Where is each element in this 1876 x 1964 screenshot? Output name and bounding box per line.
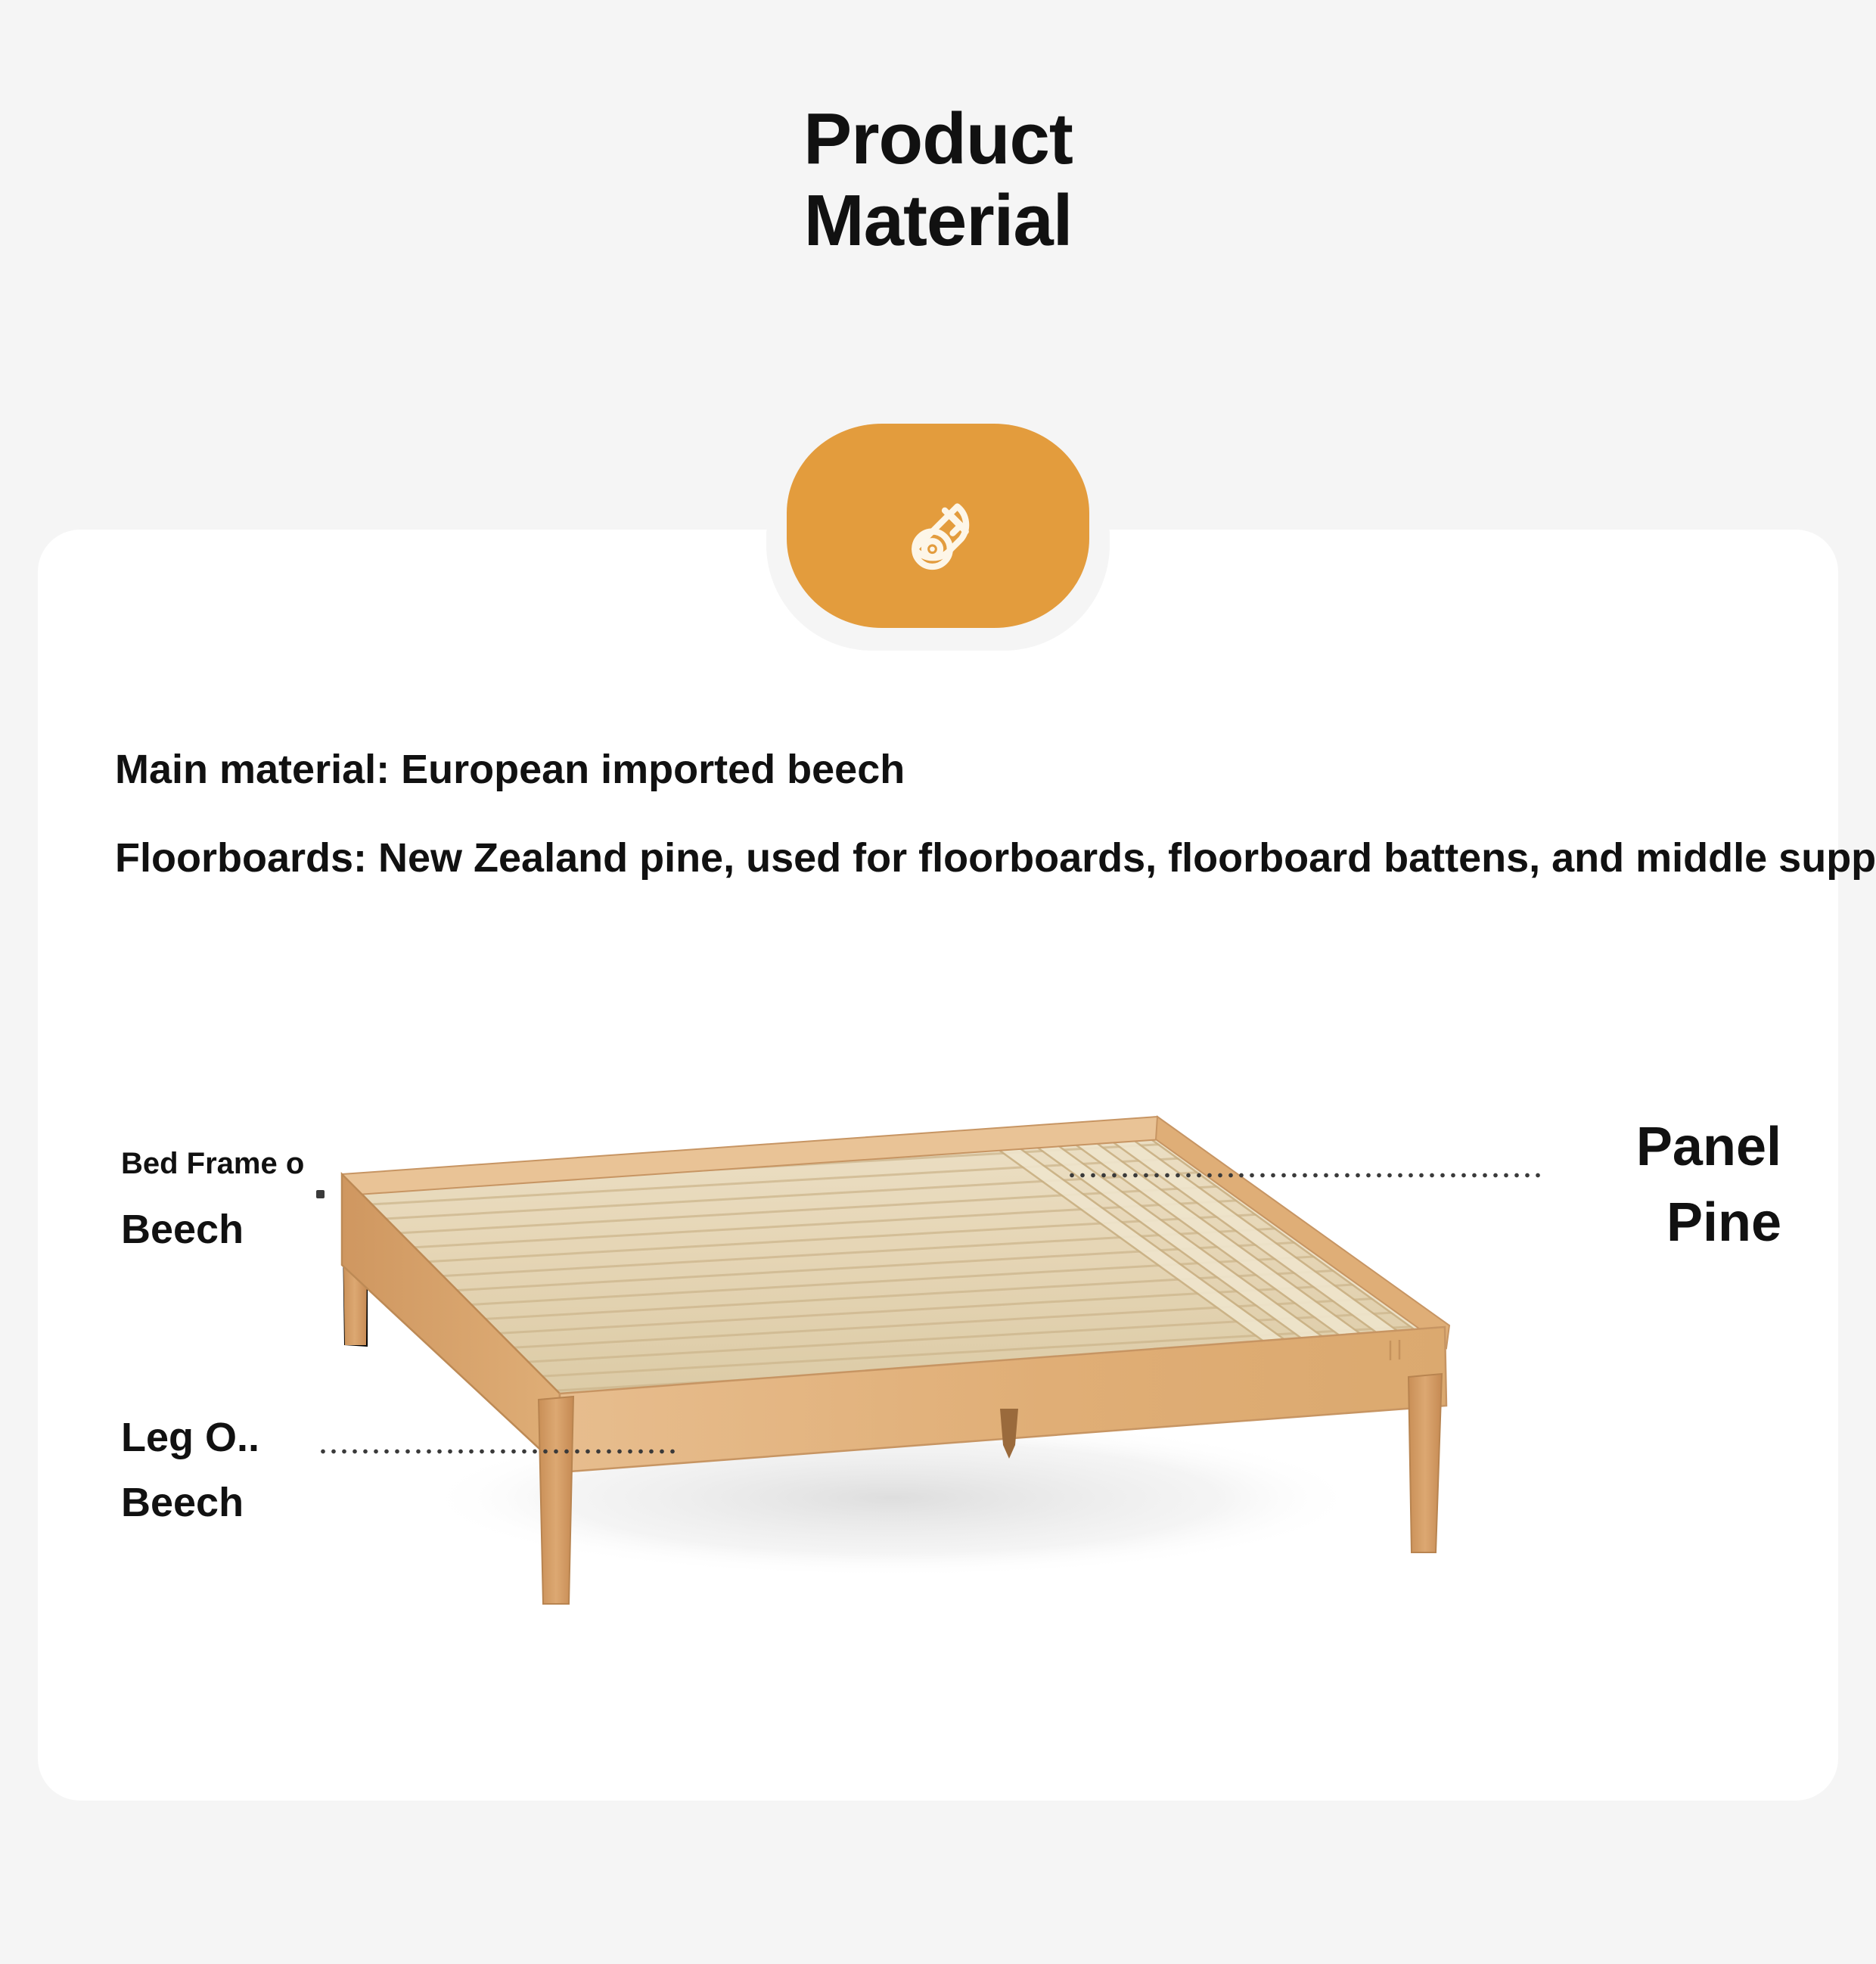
annotation-leg-line-1: Leg O.. xyxy=(121,1417,259,1458)
leader-dot-bed-frame xyxy=(316,1190,325,1198)
material-badge xyxy=(787,424,1089,628)
bed-frame-drawing xyxy=(0,1044,1876,1664)
leader-line-leg xyxy=(318,1448,675,1455)
annotation-panel: Panel Pine xyxy=(1636,1120,1781,1250)
wood-log-icon xyxy=(881,469,995,583)
page-title-line-1: Product xyxy=(0,98,1876,180)
annotation-panel-line-2: Pine xyxy=(1636,1195,1781,1250)
annotation-bed-frame-line-2: Beech xyxy=(121,1209,304,1250)
annotation-leg-line-2: Beech xyxy=(121,1482,259,1523)
product-illustration xyxy=(0,1044,1876,1664)
material-description: Main material: European imported beech F… xyxy=(115,749,1809,878)
product-material-page: Product Material Main material: Europea xyxy=(0,0,1876,1964)
material-line-floorboards: Floorboards: New Zealand pine, used for … xyxy=(115,837,1809,878)
annotation-panel-line-1: Panel xyxy=(1636,1120,1781,1174)
annotation-bed-frame: Bed Frame o Beech xyxy=(121,1148,304,1250)
material-line-main: Main material: European imported beech xyxy=(115,749,1809,790)
leader-line-panel xyxy=(1067,1172,1542,1179)
page-title-line-2: Material xyxy=(0,180,1876,262)
page-title: Product Material xyxy=(0,98,1876,261)
annotation-leg: Leg O.. Beech xyxy=(121,1417,259,1523)
annotation-bed-frame-line-1: Bed Frame o xyxy=(121,1148,304,1179)
